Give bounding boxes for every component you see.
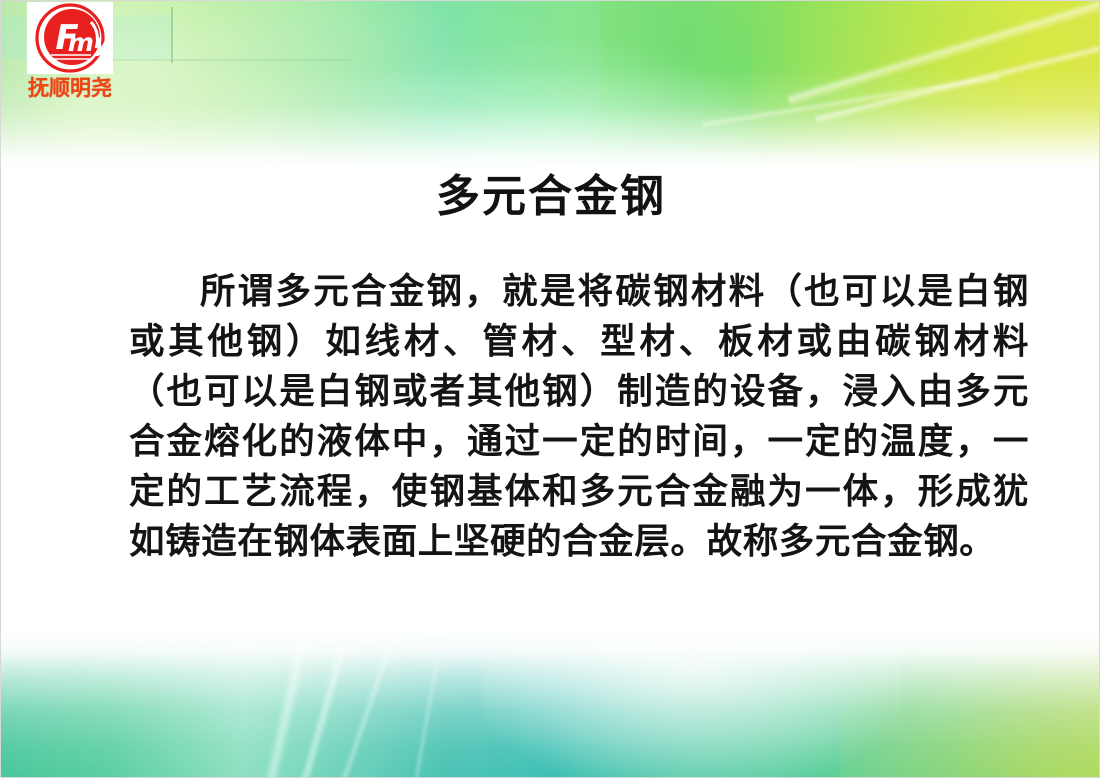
slide-body-paragraph: 所谓多元合金钢，就是将碳钢材料（也可以是白钢或其他钢）如线材、管材、型材、板材或… xyxy=(129,267,1029,567)
fmy-logo-icon: F my xyxy=(27,2,113,74)
company-logo: F my 抚顺明尧 xyxy=(27,2,113,99)
footer-white-fade xyxy=(1,631,1100,777)
logo-mark-plate: F my xyxy=(27,2,113,74)
slide-title: 多元合金钢 xyxy=(1,173,1100,221)
company-name-label: 抚顺明尧 xyxy=(27,78,113,99)
svg-text:my: my xyxy=(68,28,112,57)
banner-white-fade xyxy=(1,1,1100,169)
bottom-decorative-band xyxy=(1,631,1100,777)
top-decorative-banner xyxy=(1,1,1100,169)
presentation-slide: F my 抚顺明尧 多元合金钢 所谓多元合金钢，就是将碳钢材料（也可以是白钢或其… xyxy=(0,0,1100,778)
